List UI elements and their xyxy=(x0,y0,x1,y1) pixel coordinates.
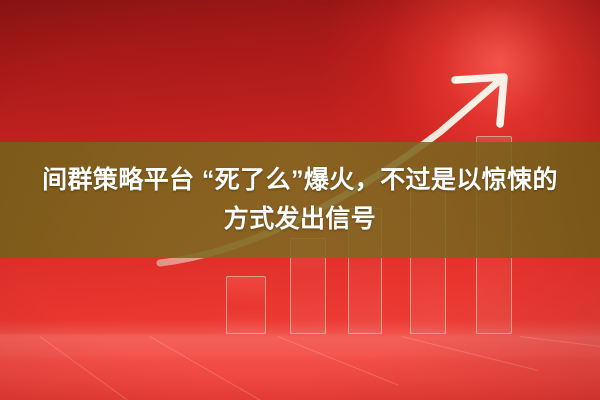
banner-image: 间群策略平台 “死了么”爆火，不过是以惊悚的 方式发出信号 xyxy=(0,0,600,400)
headline-line-2: 方式发出信号 xyxy=(224,202,376,238)
headline-line-1: 间群策略平台 “死了么”爆火，不过是以惊悚的 xyxy=(32,163,568,199)
headline-overlay-band: 间群策略平台 “死了么”爆火，不过是以惊悚的 方式发出信号 xyxy=(0,142,600,258)
